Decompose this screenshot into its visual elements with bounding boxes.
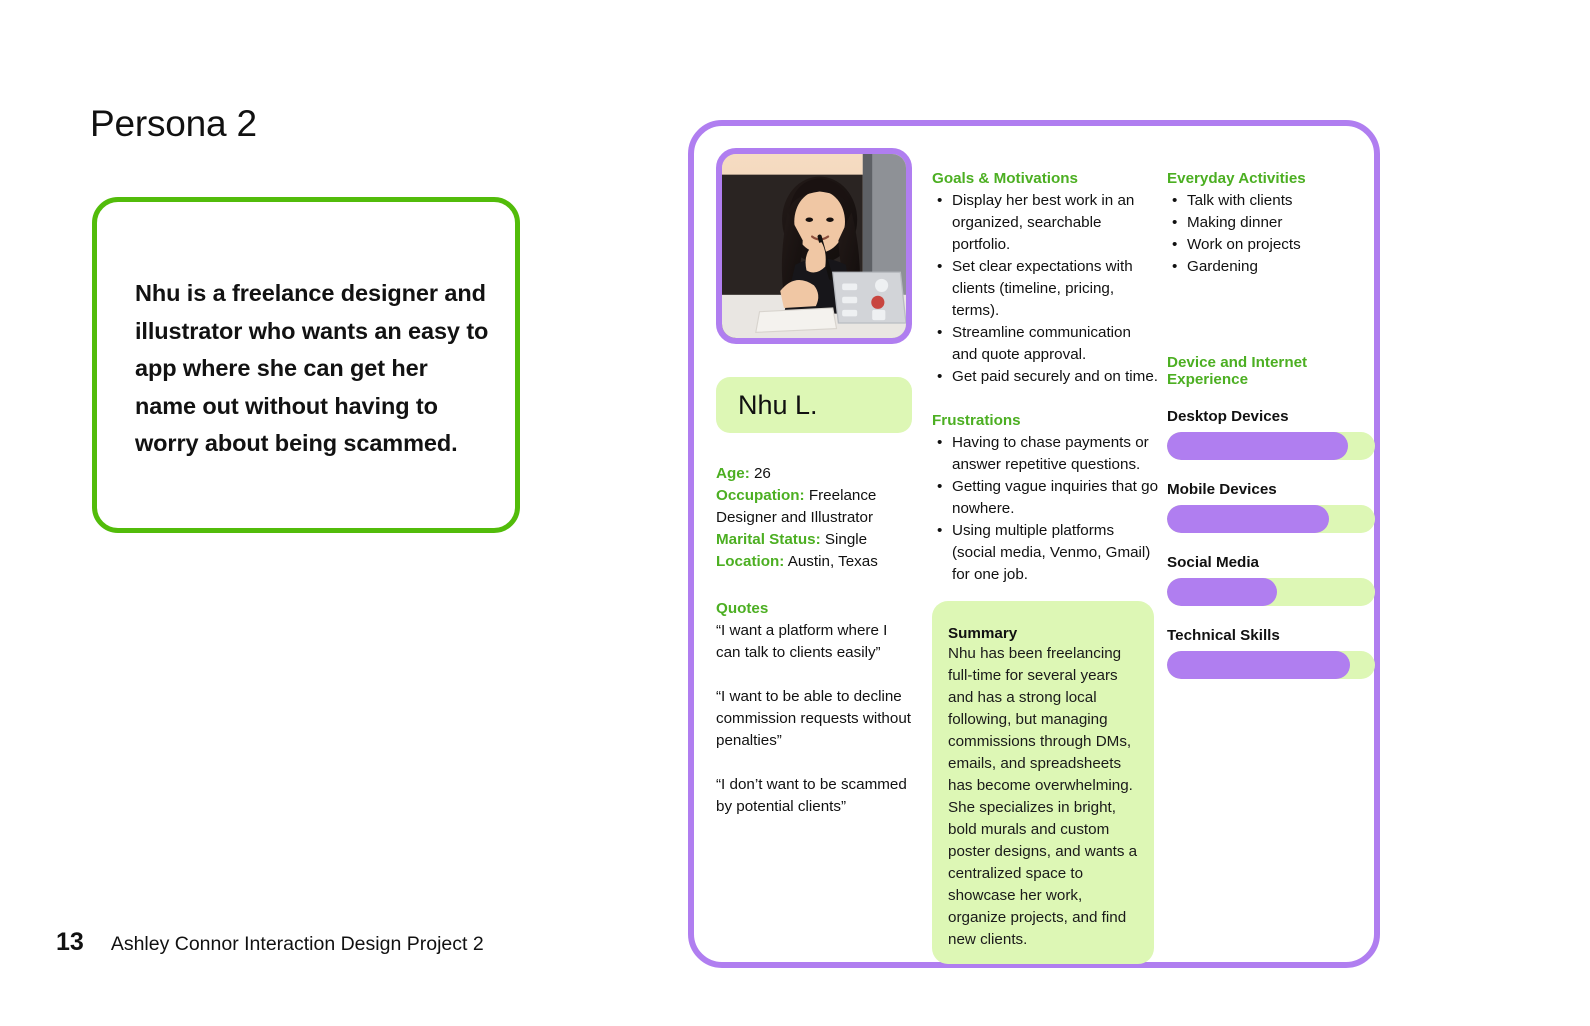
fact-key-age: Age: bbox=[716, 465, 750, 482]
persona-middle-column: Goals & Motivations Display her best wor… bbox=[932, 170, 1158, 610]
meter-fill bbox=[1167, 432, 1348, 460]
meter-label: Mobile Devices bbox=[1167, 481, 1377, 498]
fact-row-age: Age: 26 bbox=[716, 463, 912, 485]
list-item: Talk with clients bbox=[1167, 190, 1377, 212]
frustrations-heading: Frustrations bbox=[932, 412, 1158, 429]
list-item: Display her best work in an organized, s… bbox=[932, 190, 1158, 256]
fact-row-location: Location: Austin, Texas bbox=[716, 551, 912, 573]
meter-fill bbox=[1167, 651, 1350, 679]
meter-row-desktop-devices: Desktop Devices bbox=[1167, 408, 1377, 460]
summary-text: Nhu has been freelancing full-time for s… bbox=[948, 643, 1138, 951]
fact-value-age: 26 bbox=[754, 465, 771, 482]
list-item: Get paid securely and on time. bbox=[932, 366, 1158, 388]
quote-item: “I want a platform where I can talk to c… bbox=[716, 620, 916, 664]
meter-label: Desktop Devices bbox=[1167, 408, 1377, 425]
left-panel: Persona 2 Nhu is a freelance designer an… bbox=[0, 0, 660, 1026]
quote-item: “I want to be able to decline commission… bbox=[716, 686, 916, 752]
summary-heading: Summary bbox=[948, 625, 1138, 642]
fact-row-occupation: Occupation: Freelance Designer and Illus… bbox=[716, 485, 912, 529]
meter-label: Social Media bbox=[1167, 554, 1377, 571]
persona-right-column: Everyday Activities Talk with clients Ma… bbox=[1167, 170, 1377, 700]
persona-card: Nhu L. Age: 26 Occupation: Freelance Des… bbox=[688, 120, 1380, 968]
goals-block: Goals & Motivations Display her best wor… bbox=[932, 170, 1158, 388]
list-item: Set clear expectations with clients (tim… bbox=[932, 256, 1158, 322]
everyday-activities-list: Talk with clients Making dinner Work on … bbox=[1167, 190, 1377, 278]
meter-label: Technical Skills bbox=[1167, 627, 1377, 644]
list-item: Making dinner bbox=[1167, 212, 1377, 234]
list-item: Streamline communication and quote appro… bbox=[932, 322, 1158, 366]
summary-box: Summary Nhu has been freelancing full-ti… bbox=[932, 601, 1154, 964]
fact-value-location: Austin, Texas bbox=[788, 553, 878, 570]
footer-page-number: 13 bbox=[56, 928, 84, 957]
quote-item: “I don’t want to be scammed by potential… bbox=[716, 774, 916, 818]
persona-statement-box: Nhu is a freelance designer and illustra… bbox=[92, 197, 520, 533]
meter-track bbox=[1167, 651, 1375, 679]
fact-key-location: Location: bbox=[716, 553, 784, 570]
page-title: Persona 2 bbox=[90, 103, 257, 145]
persona-photo-frame bbox=[716, 148, 912, 344]
fact-key-occupation: Occupation: bbox=[716, 487, 805, 504]
quotes-block: Quotes “I want a platform where I can ta… bbox=[716, 600, 916, 818]
meter-track bbox=[1167, 578, 1375, 606]
everyday-activities-heading: Everyday Activities bbox=[1167, 170, 1377, 187]
everyday-activities-block: Everyday Activities Talk with clients Ma… bbox=[1167, 170, 1377, 278]
goals-list: Display her best work in an organized, s… bbox=[932, 190, 1158, 388]
footer-caption: Ashley Connor Interaction Design Project… bbox=[111, 933, 484, 956]
footer: 13 Ashley Connor Interaction Design Proj… bbox=[56, 928, 484, 957]
meter-fill bbox=[1167, 578, 1277, 606]
list-item: Using multiple platforms (social media, … bbox=[932, 520, 1158, 586]
meter-row-mobile-devices: Mobile Devices bbox=[1167, 481, 1377, 533]
meter-row-technical-skills: Technical Skills bbox=[1167, 627, 1377, 679]
persona-profile-column: Nhu L. Age: 26 Occupation: Freelance Des… bbox=[716, 148, 916, 840]
meter-track bbox=[1167, 505, 1375, 533]
device-experience-heading: Device and Internet Experience bbox=[1167, 354, 1377, 388]
meter-track bbox=[1167, 432, 1375, 460]
meter-row-social-media: Social Media bbox=[1167, 554, 1377, 606]
quotes-heading: Quotes bbox=[716, 600, 916, 617]
list-item: Having to chase payments or answer repet… bbox=[932, 432, 1158, 476]
frustrations-list: Having to chase payments or answer repet… bbox=[932, 432, 1158, 586]
persona-photo bbox=[722, 154, 906, 338]
device-experience-block: Device and Internet Experience Desktop D… bbox=[1167, 354, 1377, 679]
persona-facts: Age: 26 Occupation: Freelance Designer a… bbox=[716, 463, 912, 573]
fact-key-marital-status: Marital Status: bbox=[716, 531, 821, 548]
persona-statement-text: Nhu is a freelance designer and illustra… bbox=[135, 275, 495, 463]
persona-name-badge: Nhu L. bbox=[716, 377, 912, 433]
goals-heading: Goals & Motivations bbox=[932, 170, 1158, 187]
list-item: Work on projects bbox=[1167, 234, 1377, 256]
list-item: Getting vague inquiries that go nowhere. bbox=[932, 476, 1158, 520]
fact-value-marital-status: Single bbox=[825, 531, 867, 548]
frustrations-block: Frustrations Having to chase payments or… bbox=[932, 412, 1158, 586]
persona-name: Nhu L. bbox=[738, 390, 818, 421]
list-item: Gardening bbox=[1167, 256, 1377, 278]
fact-row-marital-status: Marital Status: Single bbox=[716, 529, 912, 551]
meter-fill bbox=[1167, 505, 1329, 533]
